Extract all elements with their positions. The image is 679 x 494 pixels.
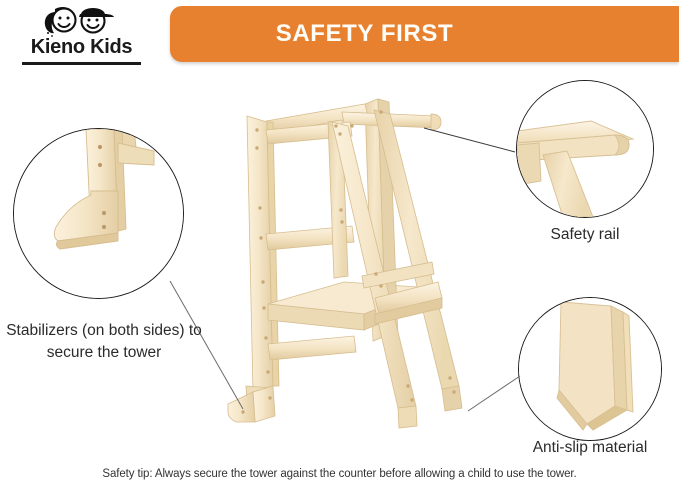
stabilizer-foot-detail (14, 129, 183, 298)
callout-circle-stabilizer (13, 128, 184, 299)
label-anti-slip: Anti-slip material (505, 437, 675, 459)
brand-name: Kieno Kids (14, 36, 149, 59)
banner-title: SAFETY FIRST (170, 20, 679, 48)
brand-logo: Kieno Kids (14, 4, 149, 66)
anti-slip-foot-detail (519, 298, 661, 440)
safety-first-banner: SAFETY FIRST (170, 6, 679, 62)
callout-circle-safety-rail (516, 80, 654, 218)
two-kid-faces-icon (42, 4, 122, 38)
label-stabilizer: Stabilizers (on both sides) to secure th… (0, 320, 208, 364)
learning-tower-illustration (226, 86, 516, 431)
callout-circle-anti-slip (518, 297, 662, 441)
logo-underline (22, 62, 141, 65)
safety-tip-text: Safety tip: Always secure the tower agai… (0, 468, 679, 480)
label-safety-rail: Safety rail (510, 224, 660, 246)
safety-rail-detail (517, 81, 653, 217)
product-infographic: Kieno Kids SAFETY FIRST (0, 0, 679, 494)
